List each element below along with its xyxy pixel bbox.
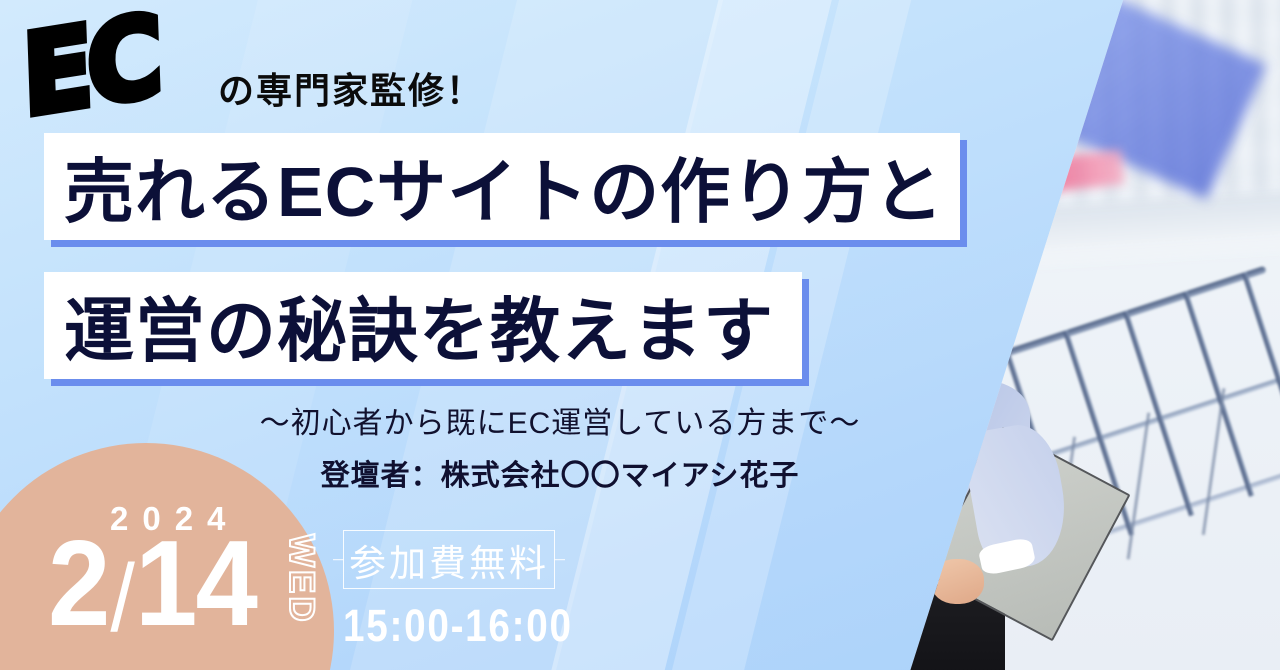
date-text: 2/14 xyxy=(48,522,256,644)
day-of-week-text: WED xyxy=(281,534,321,625)
tick-mark-left-icon xyxy=(333,559,344,561)
title-line2-text: 運営の秘訣を教えます xyxy=(64,275,774,376)
title-box-line2: 運営の秘訣を教えます xyxy=(44,272,802,379)
date-separator: / xyxy=(109,551,135,647)
webinar-banner: EC の専門家監修！ 売れるECサイトの作り方と 運営の秘訣を教えます 〜初心者… xyxy=(0,0,1280,670)
hand-holding-pointer xyxy=(851,538,910,597)
left-arm xyxy=(776,425,895,568)
day-text: 14 xyxy=(135,515,256,651)
title-line1-text: 売れるECサイトの作り方と xyxy=(64,136,944,237)
face xyxy=(889,280,984,363)
time-text: 15:00-16:00 xyxy=(343,600,573,652)
logo-suffix-text: の専門家監修！ xyxy=(218,62,484,114)
neck xyxy=(914,351,960,384)
hair-side xyxy=(859,277,924,367)
lead-text: 〜初心者から既にEC運営している方まで〜 xyxy=(250,398,870,442)
presenter-photo xyxy=(720,0,1280,670)
ec-logo: EC xyxy=(21,0,159,132)
free-admission-label: 参加費無料 xyxy=(349,533,549,587)
photo-blend-overlay xyxy=(720,0,1280,670)
collar xyxy=(885,368,989,410)
hair xyxy=(873,260,1001,360)
title-box-line1: 売れるECサイトの作り方と xyxy=(44,133,960,240)
tick-mark-right-icon xyxy=(554,559,565,561)
speaker-text: 登壇者：株式会社〇〇マイアシ花子 xyxy=(250,452,870,494)
free-admission-badge: 参加費無料 xyxy=(343,530,555,589)
month-text: 2 xyxy=(48,515,109,651)
